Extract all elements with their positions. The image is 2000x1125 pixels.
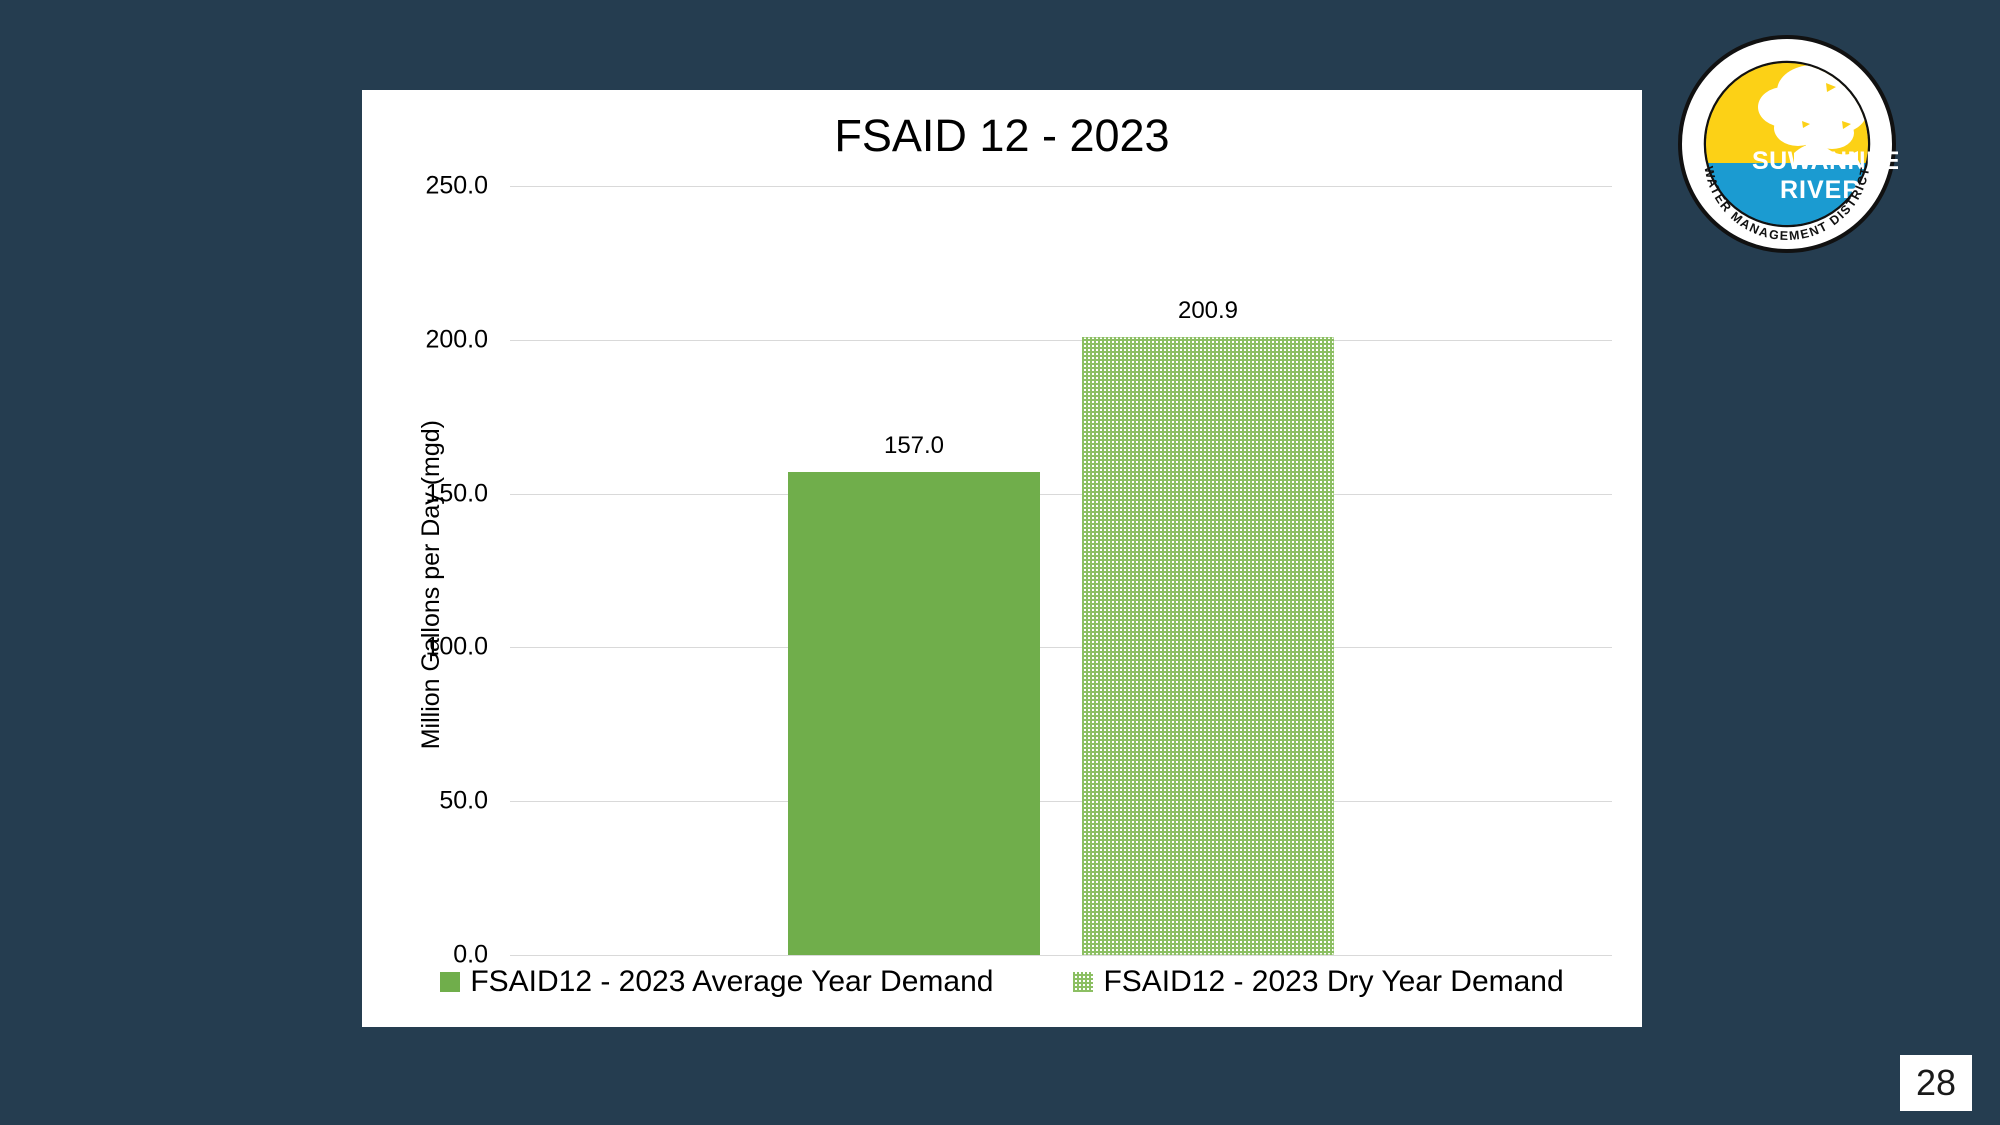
chart-title: FSAID 12 - 2023 (362, 110, 1642, 162)
legend-item-average-year[interactable]: FSAID12 - 2023 Average Year Demand (440, 965, 993, 999)
gridline (510, 801, 1612, 802)
gridline (510, 647, 1612, 648)
y-axis-tick-label: 250.0 (425, 172, 488, 201)
suwannee-river-wmd-logo: SUWANNEE RIVER WATER MANAGEMENT DISTRICT (1676, 33, 1898, 255)
y-axis-tick-label: 100.0 (425, 633, 488, 662)
gridline (510, 494, 1612, 495)
legend-swatch-solid-icon (440, 972, 460, 992)
legend-swatch-hatched-icon (1073, 972, 1093, 992)
y-axis-tick-label: 50.0 (439, 787, 488, 816)
y-axis-title: Million Gallons per Day (mgd) (417, 420, 446, 749)
chart-legend: FSAID12 - 2023 Average Year Demand FSAID… (362, 965, 1642, 999)
bar-value-label: 157.0 (788, 432, 1040, 460)
legend-label-average-year: FSAID12 - 2023 Average Year Demand (470, 965, 993, 999)
legend-item-dry-year[interactable]: FSAID12 - 2023 Dry Year Demand (1073, 965, 1563, 999)
legend-label-dry-year: FSAID12 - 2023 Dry Year Demand (1103, 965, 1563, 999)
bar-value-label: 200.9 (1082, 297, 1334, 325)
gridline (510, 340, 1612, 341)
logo-line1: SUWANNEE (1752, 147, 1898, 175)
bar-average-year[interactable]: 157.0 (788, 472, 1040, 955)
gridline (510, 955, 1612, 956)
bar-dry-year[interactable]: 200.9 (1082, 337, 1334, 955)
chart-card: FSAID 12 - 2023 Million Gallons per Day … (362, 90, 1642, 1027)
gridline (510, 186, 1612, 187)
y-axis-tick-label: 200.0 (425, 325, 488, 354)
page-number: 28 (1900, 1055, 1972, 1111)
slide-canvas: FSAID 12 - 2023 Million Gallons per Day … (0, 0, 2000, 1125)
y-axis-tick-label: 150.0 (425, 479, 488, 508)
plot-area: 0.050.0100.0150.0200.0250.0157.0200.9 (510, 186, 1612, 955)
